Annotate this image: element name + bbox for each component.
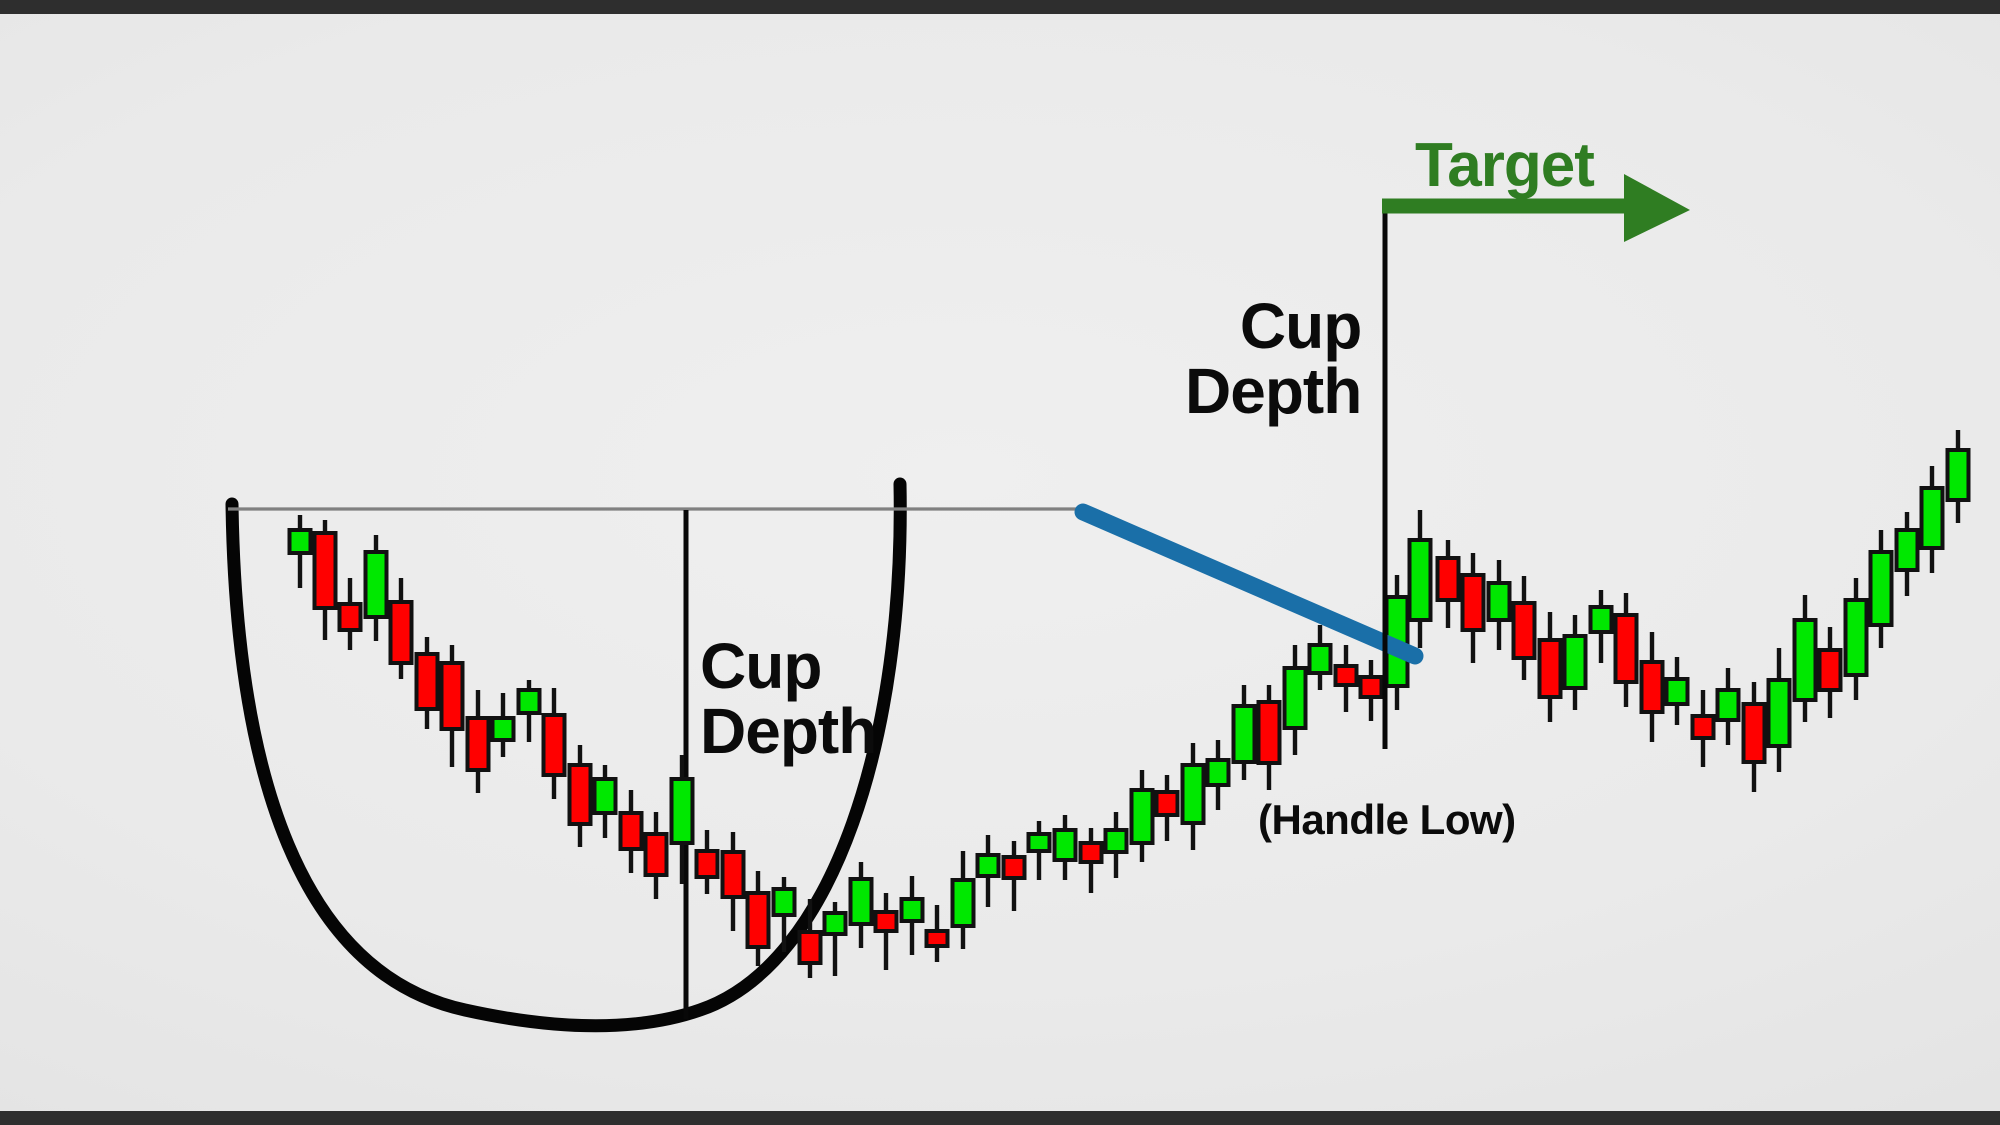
candle-bearish bbox=[927, 931, 948, 946]
candle-bullish bbox=[1183, 765, 1204, 823]
candle-bearish bbox=[1540, 640, 1561, 697]
candle-bullish bbox=[1718, 690, 1739, 720]
candle-bullish bbox=[1769, 680, 1790, 746]
candle-layer bbox=[290, 430, 1969, 978]
candle-bullish bbox=[953, 880, 974, 926]
candle-bullish bbox=[902, 899, 923, 921]
candle-bullish bbox=[595, 779, 616, 813]
candle-bullish bbox=[825, 913, 846, 934]
candle-series bbox=[1795, 430, 1969, 722]
candle-bearish bbox=[417, 654, 438, 709]
bottom-border-band bbox=[0, 1111, 2000, 1125]
candle-bearish bbox=[1820, 650, 1841, 690]
candle-bearish bbox=[340, 604, 361, 630]
candle-bearish bbox=[876, 912, 897, 931]
chart-stage: Cup Depth Cup Depth Target (Handle Low) bbox=[0, 0, 2000, 1125]
candle-bearish bbox=[442, 663, 463, 729]
candle-bullish bbox=[1897, 530, 1918, 570]
candle-bullish bbox=[366, 552, 387, 617]
candle-bullish bbox=[1667, 679, 1688, 704]
candle-bullish bbox=[1310, 645, 1331, 673]
candle-bullish bbox=[1795, 620, 1816, 700]
candle-bearish bbox=[1514, 603, 1535, 658]
target-label: Target bbox=[1415, 134, 1594, 197]
candle-series bbox=[1410, 510, 1431, 648]
candle-bearish bbox=[646, 834, 667, 875]
candle-series bbox=[825, 821, 1050, 976]
candle-bearish bbox=[748, 893, 769, 947]
candle-bullish bbox=[1922, 488, 1943, 548]
candle-bullish bbox=[1106, 830, 1127, 852]
candle-series bbox=[1438, 540, 1790, 792]
candle-bearish bbox=[1438, 558, 1459, 600]
candle-bearish bbox=[1642, 662, 1663, 712]
cup-depth-left-label: Cup Depth bbox=[700, 634, 876, 765]
candle-bearish bbox=[1744, 704, 1765, 762]
candle-bearish bbox=[1463, 575, 1484, 630]
candle-bearish bbox=[621, 813, 642, 849]
candle-bullish bbox=[1055, 830, 1076, 860]
chart-canvas: Cup Depth Cup Depth Target (Handle Low) bbox=[0, 14, 2000, 1111]
candle-bearish bbox=[800, 932, 821, 963]
handle-trendline bbox=[1083, 512, 1415, 656]
candle-bullish bbox=[672, 779, 693, 843]
candle-bearish bbox=[468, 718, 489, 770]
candle-bullish bbox=[1410, 540, 1431, 620]
candle-bullish bbox=[1285, 668, 1306, 728]
candle-bearish bbox=[391, 602, 412, 663]
candle-bearish bbox=[1693, 716, 1714, 738]
candle-bullish bbox=[1132, 790, 1153, 843]
candle-bearish bbox=[697, 851, 718, 877]
candle-bullish bbox=[1591, 607, 1612, 632]
cup-depth-right-label: Cup Depth bbox=[1185, 294, 1361, 425]
handle-low-label: (Handle Low) bbox=[1258, 799, 1516, 842]
candlestick-chart-svg bbox=[0, 14, 2000, 1111]
candle-bearish bbox=[1259, 702, 1280, 763]
candle-bearish bbox=[315, 533, 336, 608]
candle-bullish bbox=[1489, 583, 1510, 620]
candle-bullish bbox=[1846, 600, 1867, 675]
candle-bullish bbox=[1208, 760, 1229, 785]
candle-bearish bbox=[1361, 677, 1382, 697]
candle-bullish bbox=[851, 879, 872, 924]
candle-bearish bbox=[1157, 792, 1178, 815]
candle-bearish bbox=[570, 765, 591, 824]
candle-bearish bbox=[1081, 843, 1102, 862]
candle-bullish bbox=[1029, 834, 1050, 851]
candle-bullish bbox=[290, 530, 311, 553]
candle-bearish bbox=[723, 852, 744, 897]
candle-bullish bbox=[1871, 552, 1892, 625]
candle-bearish bbox=[544, 715, 565, 775]
candle-bullish bbox=[1565, 636, 1586, 688]
candle-bullish bbox=[1948, 450, 1969, 500]
candle-bullish bbox=[519, 690, 540, 713]
candle-bearish bbox=[1336, 666, 1357, 685]
candle-bullish bbox=[774, 889, 795, 915]
candle-bullish bbox=[493, 718, 514, 740]
candle-bullish bbox=[978, 855, 999, 876]
candle-bearish bbox=[1616, 615, 1637, 682]
target-arrow-head bbox=[1624, 174, 1690, 242]
candle-bearish bbox=[1004, 857, 1025, 878]
top-border-band bbox=[0, 0, 2000, 14]
candle-bullish bbox=[1234, 706, 1255, 762]
